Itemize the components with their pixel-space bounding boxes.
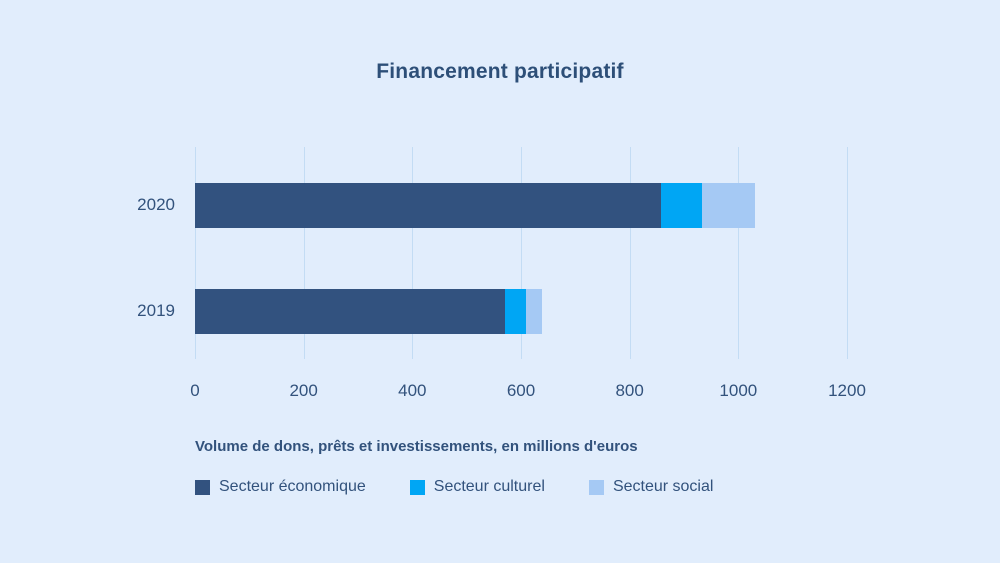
x-tick-label: 200 bbox=[264, 381, 344, 401]
chart-container: Financement participatif 020040060080010… bbox=[0, 0, 1000, 563]
legend-swatch-icon bbox=[589, 480, 604, 495]
x-tick-label: 0 bbox=[155, 381, 235, 401]
bar-segment[interactable] bbox=[702, 183, 755, 228]
y-category-label: 2020 bbox=[137, 195, 175, 215]
y-category-label: 2019 bbox=[137, 301, 175, 321]
legend-label: Secteur économique bbox=[219, 478, 366, 496]
legend-item[interactable]: Secteur social bbox=[589, 478, 714, 496]
legend-item[interactable]: Secteur culturel bbox=[410, 478, 545, 496]
gridline bbox=[630, 147, 631, 359]
bar-segment[interactable] bbox=[526, 289, 542, 334]
chart-title: Financement participatif bbox=[0, 60, 1000, 84]
x-tick-label: 1200 bbox=[807, 381, 887, 401]
legend-label: Secteur culturel bbox=[434, 478, 545, 496]
gridline bbox=[847, 147, 848, 359]
x-tick-label: 1000 bbox=[698, 381, 778, 401]
legend-item[interactable]: Secteur économique bbox=[195, 478, 366, 496]
y-category-label-wrap: 2019 bbox=[0, 312, 185, 313]
x-tick-label: 600 bbox=[481, 381, 561, 401]
x-tick-label: 800 bbox=[590, 381, 670, 401]
bar-segment[interactable] bbox=[661, 183, 702, 228]
chart-legend: Secteur économiqueSecteur culturelSecteu… bbox=[195, 478, 757, 496]
bar-segment[interactable] bbox=[195, 183, 661, 228]
legend-swatch-icon bbox=[410, 480, 425, 495]
bar-segment[interactable] bbox=[195, 289, 505, 334]
plot-area bbox=[195, 147, 847, 359]
legend-swatch-icon bbox=[195, 480, 210, 495]
x-tick-label: 400 bbox=[372, 381, 452, 401]
y-category-label-wrap: 2020 bbox=[0, 206, 185, 207]
chart-subtitle: Volume de dons, prêts et investissements… bbox=[195, 438, 638, 455]
bar-segment[interactable] bbox=[505, 289, 526, 334]
legend-label: Secteur social bbox=[613, 478, 714, 496]
gridline bbox=[738, 147, 739, 359]
